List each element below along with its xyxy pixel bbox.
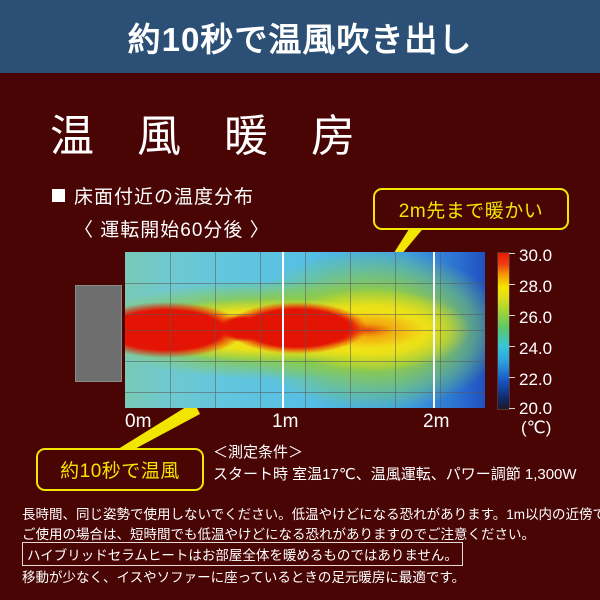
- grid-line-h: [125, 314, 485, 315]
- chart-caption-line1-text: 床面付近の温度分布: [74, 187, 254, 208]
- chart-caption-line2: 〈 運転開始60分後 〉: [74, 215, 270, 242]
- colorbar-label-26: 26.0: [519, 308, 552, 328]
- grid-line-h: [125, 330, 485, 331]
- colorbar-tick: [509, 408, 515, 409]
- grid-line-h: [125, 392, 485, 393]
- heater-unit-block: [75, 285, 122, 382]
- colorbar-unit-label: (℃): [521, 418, 551, 438]
- axis-label-1m: 1m: [272, 411, 298, 433]
- conditions-heading: ＜測定条件＞: [213, 441, 303, 462]
- conditions-detail: スタート時 室温17℃、温風運転、パワー調節 1,300W: [213, 463, 577, 484]
- colorbar-tick: [509, 284, 515, 285]
- colorbar-tick: [509, 346, 515, 347]
- disclaimer-line-3-boxed: ハイブリッドセラムヒートはお部屋全体を暖めるものではありません。: [22, 542, 463, 566]
- axis-label-0m: 0m: [125, 411, 151, 433]
- page-root: 約10秒で温風吹き出し 温 風 暖 房 床面付近の温度分布 〈 運転開始60分後…: [0, 0, 600, 600]
- disclaimer-line-2: ご使用の場合は、短時間でも低温やけどになる恐れがありますのでご注意ください。: [22, 523, 535, 543]
- disclaimer-line-1: 長時間、同じ姿勢で使用しないでください。低温やけどになる恐れがあります。1m以内…: [22, 503, 600, 523]
- header-banner-text: 約10秒で温風吹き出し: [128, 13, 473, 61]
- callout-10sec: 約10秒で温風: [36, 448, 204, 491]
- colorbar-label-30: 30.0: [519, 246, 552, 266]
- chart-caption-line1: 床面付近の温度分布: [52, 182, 270, 209]
- colorbar-tick: [509, 253, 515, 254]
- callout-warm-2m-text: 2m先まで暖かい: [399, 196, 543, 223]
- colorbar-tick: [509, 377, 515, 378]
- marker-line-1m: [282, 252, 284, 408]
- callout-warm-2m: 2m先まで暖かい: [373, 188, 569, 230]
- colorbar-label-22: 22.0: [519, 370, 552, 390]
- colorbar: [497, 252, 510, 410]
- grid-line-h: [125, 283, 485, 284]
- filled-square-icon: [52, 189, 65, 202]
- header-banner: 約10秒で温風吹き出し: [0, 0, 600, 73]
- colorbar-label-28: 28.0: [519, 277, 552, 297]
- colorbar-label-20: 20.0: [519, 399, 552, 419]
- chart-caption: 床面付近の温度分布 〈 運転開始60分後 〉: [52, 182, 270, 242]
- disclaimer-line-4: 移動が少なく、イスやソファーに座っているときの足元暖房に最適です。: [22, 566, 465, 586]
- axis-label-2m: 2m: [423, 411, 449, 433]
- colorbar-label-24: 24.0: [519, 339, 552, 359]
- marker-line-2m: [433, 252, 435, 408]
- page-title: 温 風 暖 房: [50, 100, 371, 164]
- grid-line-h: [125, 361, 485, 362]
- callout-10sec-text: 約10秒で温風: [60, 456, 180, 483]
- thermal-heatmap: [125, 252, 485, 408]
- colorbar-tick: [509, 315, 515, 316]
